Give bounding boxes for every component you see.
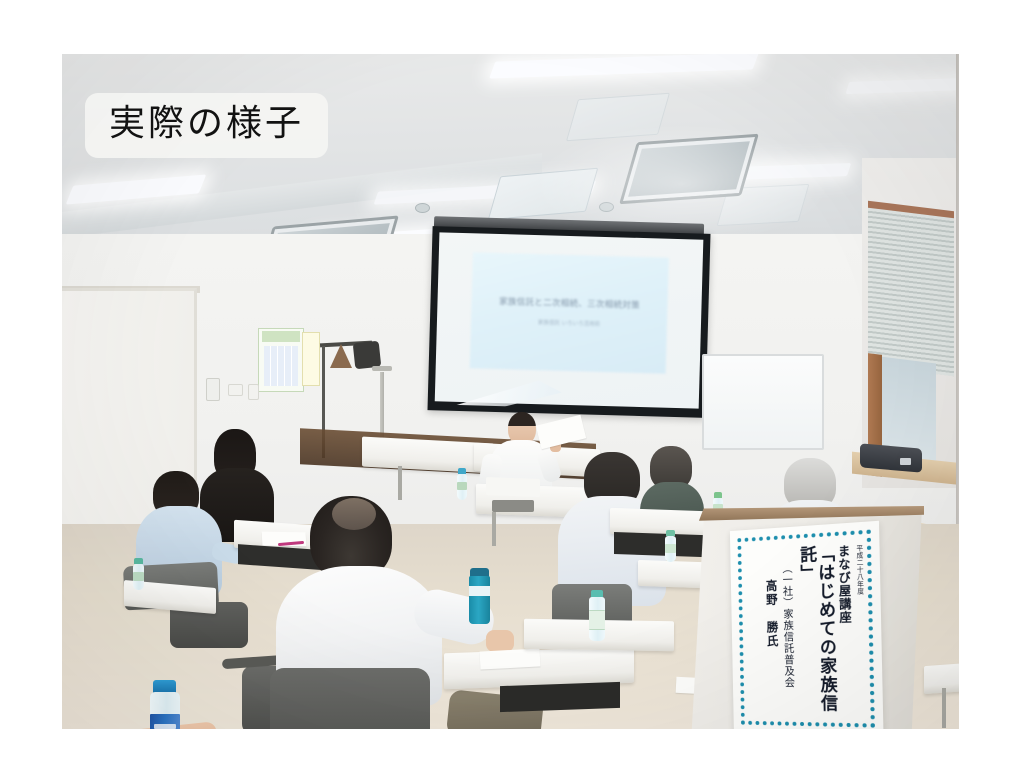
air-conditioner-vent xyxy=(619,134,759,205)
poster-text-columns: 平成二十八年度 まなび屋講座 「はじめての家族信託」 （一社）家族信託普及会 高… xyxy=(746,543,865,716)
bottle-label xyxy=(589,610,605,630)
notice-header xyxy=(262,331,300,342)
notice-calendar-grid xyxy=(264,346,298,386)
paper-held-over-screen xyxy=(456,378,562,408)
tumbler-band xyxy=(469,586,490,596)
screen-surface: 家族信託と二次相続、三次相続対策 家族信託 いろいろ活用術 xyxy=(435,232,704,408)
whiteboard xyxy=(702,354,824,450)
wall-notice-yellow xyxy=(302,332,320,386)
table-leg xyxy=(942,688,946,728)
bag-tag xyxy=(900,458,911,465)
poster-border: 平成二十八年度 まなび屋講座 「はじめての家族信託」 （一社）家族信託普及会 高… xyxy=(737,530,875,728)
wall-notice-calendar xyxy=(258,328,304,392)
bottle-label xyxy=(665,544,676,553)
ceiling-sensor xyxy=(415,203,430,213)
attendee-bald-spot xyxy=(332,498,376,530)
intercom-panel[interactable] xyxy=(206,378,220,401)
screen-stand-top xyxy=(372,366,392,371)
papers-on-presenter-table xyxy=(486,477,540,497)
attendee-hand xyxy=(486,630,514,652)
poster-year-line: 平成二十八年度 xyxy=(855,545,863,596)
presentation-slide: 家族信託と二次相続、三次相続対策 家族信託 いろいろ活用術 xyxy=(0,0,1024,769)
poster-speaker-name: 高野 勝氏 xyxy=(765,579,778,648)
projected-slide-subtitle: 家族信託 いろいろ活用術 xyxy=(538,318,600,328)
bottle-label-text xyxy=(154,724,176,729)
seminar-poster: 平成二十八年度 まなび屋講座 「はじめての家族信託」 （一社）家族信託普及会 高… xyxy=(730,521,884,729)
projector-device xyxy=(492,500,534,512)
light-switch[interactable] xyxy=(228,384,243,396)
bottle-label xyxy=(457,482,467,490)
ceiling-sensor xyxy=(599,202,614,212)
ceiling-access-panel xyxy=(566,93,670,141)
projected-slide: 家族信託と二次相続、三次相続対策 家族信託 いろいろ活用術 xyxy=(470,252,669,374)
window-blinds[interactable] xyxy=(868,201,954,377)
bottle-label xyxy=(133,572,144,581)
projector-screen: 家族信託と二次相続、三次相続対策 家族信託 いろいろ活用術 xyxy=(427,226,710,418)
handout xyxy=(480,648,541,669)
poster-main-title: 「はじめての家族信託」 xyxy=(796,544,835,714)
table-leg xyxy=(398,466,402,500)
table-modesty-panel xyxy=(500,682,620,712)
poster-series-line: まなび屋講座 xyxy=(837,544,851,624)
slide-caption-label: 実際の様子 xyxy=(85,93,328,158)
tumbler-body xyxy=(469,576,490,624)
poster-organization: （一社）家族信託普及会 xyxy=(781,563,794,689)
projected-slide-title: 家族信託と二次相続、三次相続対策 xyxy=(499,297,640,312)
table-leg xyxy=(492,512,496,546)
hanging-bag xyxy=(353,341,382,370)
light-switch[interactable] xyxy=(248,384,259,400)
chair xyxy=(270,668,430,729)
